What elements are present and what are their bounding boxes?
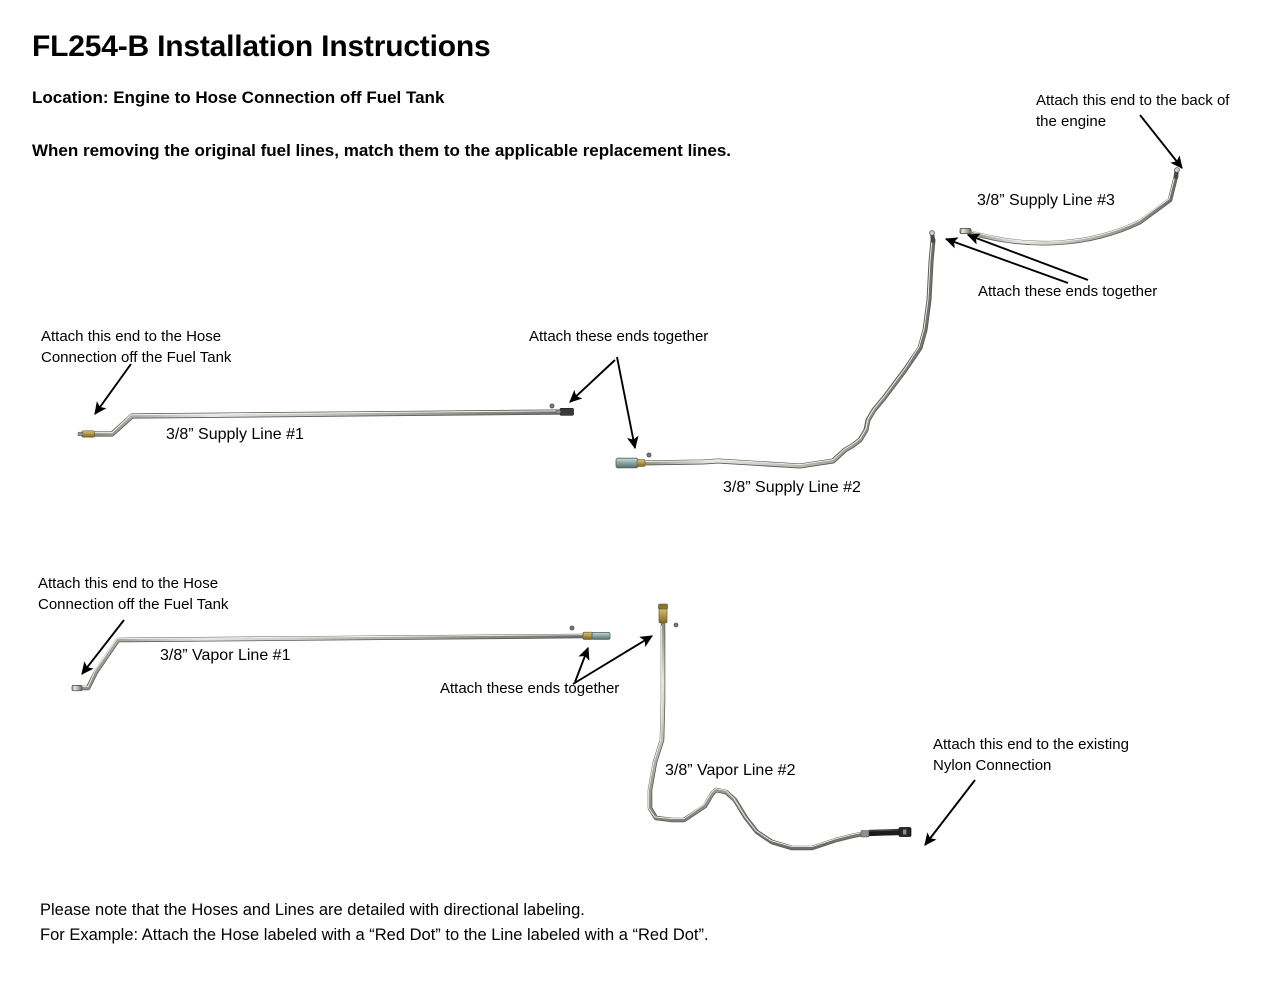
supply-line-1-right-fitting: [560, 408, 574, 415]
matching-instruction: When removing the original fuel lines, m…: [32, 141, 731, 161]
location-subtitle: Location: Engine to Hose Connection off …: [32, 88, 444, 108]
arrow-supply3-left-end: [968, 235, 1088, 280]
installation-instructions-page: FL254-B Installation Instructions Locati…: [0, 0, 1280, 989]
page-title: FL254-B Installation Instructions: [32, 30, 490, 64]
supply-line-2-tube: [616, 231, 934, 468]
annotation-supply3-ends-together: Attach these ends together: [978, 281, 1157, 302]
arrow-nylon-connection: [925, 780, 975, 845]
supply-line-2-directional-dot: [647, 453, 651, 457]
supply-line-1-directional-dot: [550, 404, 554, 408]
annotation-vapor-ends-together: Attach these ends together: [440, 678, 619, 699]
vapor-line-2-nylon-connector: [899, 828, 911, 837]
arrow-vapor1-right-end: [575, 648, 588, 682]
footer-note-directional-labeling: Please note that the Hoses and Lines are…: [40, 901, 585, 920]
supply-line-1-left-fitting: [82, 431, 95, 437]
label-supply-line-2: 3/8” Supply Line #2: [723, 479, 861, 497]
arrow-supply1-right-end: [570, 360, 615, 402]
supply-line-3-left-end: [960, 228, 971, 233]
footer-note-red-dot-example: For Example: Attach the Hose labeled wit…: [40, 926, 709, 945]
arrow-vapor1-hose-connection: [82, 620, 124, 674]
supply-line-3-engine-tip: [1175, 168, 1180, 173]
vapor-line-2-rubber-hose: [869, 832, 900, 833]
annotation-nylon-connection: Attach this end to the existing Nylon Co…: [933, 734, 1129, 776]
vapor-line-2-directional-dot: [674, 623, 678, 627]
supply-line-1-tube: [78, 404, 574, 437]
label-supply-line-3: 3/8” Supply Line #3: [977, 192, 1115, 210]
vapor-line-1-left-tip: [72, 685, 82, 690]
vapor-line-1-right-connector: [592, 632, 610, 639]
arrow-supply1-hose-connection: [95, 364, 131, 414]
label-supply-line-1: 3/8” Supply Line #1: [166, 426, 304, 444]
annotation-supply-mid-ends-together: Attach these ends together: [529, 326, 708, 347]
arrow-supply2-top-end: [946, 239, 1068, 283]
supply-line-2-top-tip: [930, 231, 935, 236]
supply-line-2-left-connector: [616, 458, 638, 468]
arrow-supply2-left-end: [617, 357, 635, 448]
arrow-vapor2-top-end: [573, 636, 652, 684]
vapor-line-1-right-fitting: [583, 632, 593, 639]
vapor-line-2-tube: [649, 604, 911, 848]
vapor-line-2-top-fitting: [659, 608, 667, 623]
annotation-vapor1-hose-connection: Attach this end to the Hose Connection o…: [38, 573, 228, 615]
vapor-line-1-directional-dot: [570, 626, 574, 630]
annotation-engine-back: Attach this end to the back of the engin…: [1036, 90, 1229, 132]
label-vapor-line-1: 3/8” Vapor Line #1: [160, 647, 290, 665]
label-vapor-line-2: 3/8” Vapor Line #2: [665, 762, 795, 780]
annotation-supply1-hose-connection: Attach this end to the Hose Connection o…: [41, 326, 231, 368]
